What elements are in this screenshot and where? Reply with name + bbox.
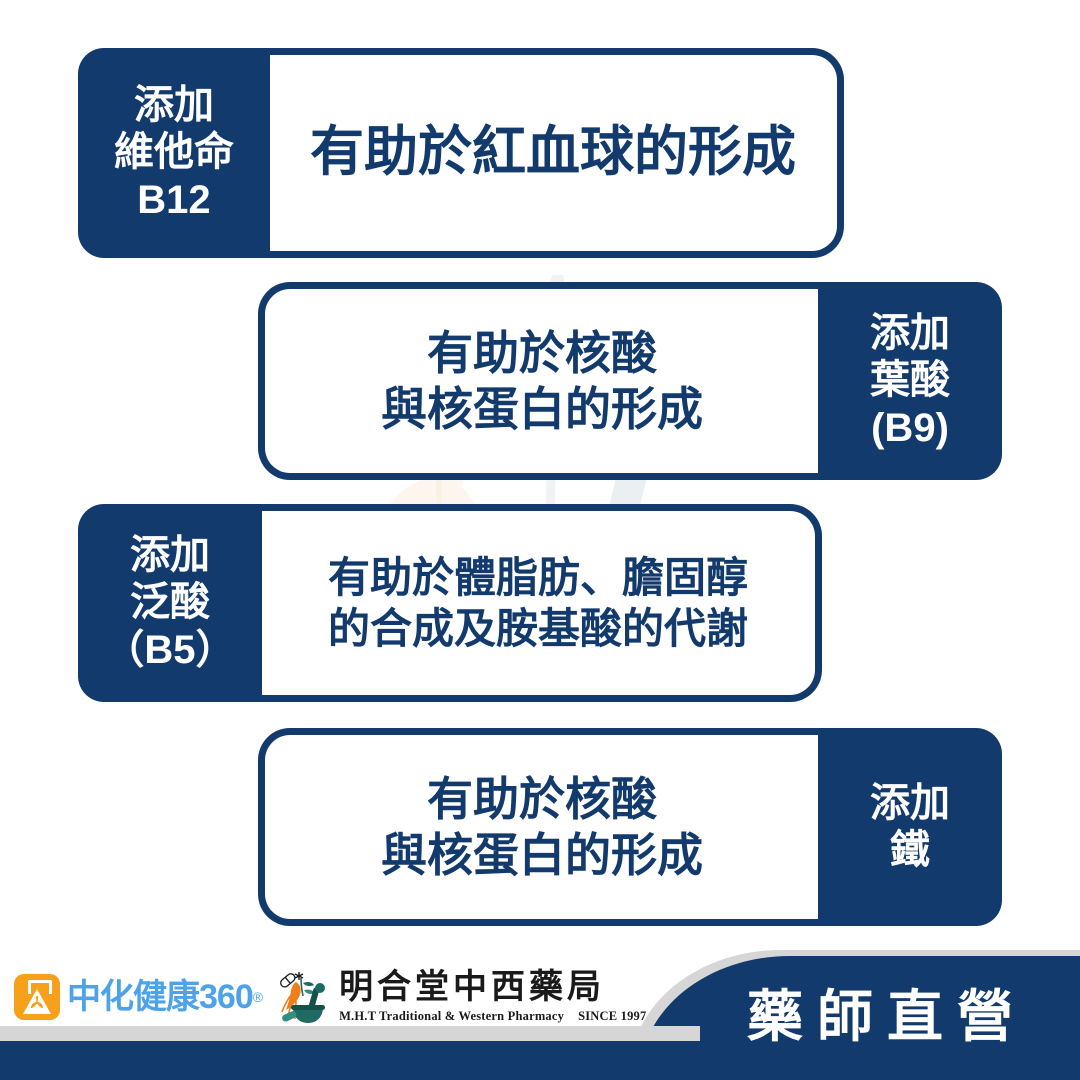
benefit-text-line: 的合成及胺基酸的代謝 xyxy=(328,603,748,654)
minghetang-chinese-name: 明合堂中西藥局 xyxy=(339,970,646,1006)
pharmacist-operated-slogan: 藥師直營 xyxy=(700,966,1060,1058)
footer-bar: 中化健康360 ® xyxy=(0,944,1080,1080)
benefit-text-line: 有助於核酸 xyxy=(427,771,657,827)
nutrient-label-line: 添加 xyxy=(134,82,214,129)
benefit-text-iron: 有助於核酸 與核蛋白的形成 xyxy=(258,728,819,926)
nutrient-label-vitamin-b12: 添加 維他命 B12 xyxy=(78,48,270,258)
nutrient-label-line: 葉酸 xyxy=(870,357,950,404)
nutrient-label-pantothenic-acid: 添加 泛酸 （B5） xyxy=(78,504,262,702)
minghetang-english-name: M.H.T Traditional & Western Pharmacy xyxy=(339,1009,564,1024)
benefit-text-line: 有助於體脂肪、膽固醇 xyxy=(328,552,748,603)
registered-mark-icon: ® xyxy=(253,989,263,1005)
nutrient-label-line: (B9) xyxy=(871,405,949,452)
poster-canvas: 一明合堂中西藥局一 M.H.T Traditional & Western Ph… xyxy=(0,0,1080,1080)
flask-plant-icon xyxy=(26,995,48,1013)
chunghwa-brand-text: 中化健康360 xyxy=(67,980,253,1014)
benefit-row-iron: 有助於核酸 與核蛋白的形成 添加 鐵 xyxy=(258,728,1002,926)
nutrient-label-line: 泛酸 xyxy=(130,579,210,626)
nutrient-label-line: 添加 xyxy=(870,310,950,357)
benefit-row-folic-acid: 有助於核酸 與核蛋白的形成 添加 葉酸 (B9) xyxy=(258,282,1002,480)
nutrient-label-line: 鐵 xyxy=(890,827,930,874)
flask-logo-icon xyxy=(14,974,60,1020)
chunghwa-health-360-logo[interactable]: 中化健康360 ® xyxy=(14,974,263,1020)
mortar-pestle-herb-icon xyxy=(277,969,333,1025)
benefit-text-line: 有助於核酸 xyxy=(427,325,657,381)
benefit-text-pantothenic-acid: 有助於體脂肪、膽固醇 的合成及胺基酸的代謝 xyxy=(261,504,822,702)
benefit-text-line: 與核蛋白的形成 xyxy=(381,827,703,883)
nutrient-label-line: 添加 xyxy=(870,780,950,827)
nutrient-label-line: 添加 xyxy=(130,532,210,579)
nutrient-label-iron: 添加 鐵 xyxy=(818,728,1002,926)
benefit-text-folic-acid: 有助於核酸 與核蛋白的形成 xyxy=(258,282,819,480)
minghetang-english-row: M.H.T Traditional & Western Pharmacy SIN… xyxy=(339,1009,646,1024)
nutrient-label-line: B12 xyxy=(137,177,210,224)
nutrient-label-line: （B5） xyxy=(104,627,235,674)
minghetang-since-text: SINCE 1997 xyxy=(578,1009,646,1024)
benefit-row-vitamin-b12: 添加 維他命 B12 有助於紅血球的形成 xyxy=(78,48,844,258)
benefit-text-line: 有助於紅血球的形成 xyxy=(310,120,796,186)
benefit-text-vitamin-b12: 有助於紅血球的形成 xyxy=(269,48,844,258)
footer-logos: 中化健康360 ® xyxy=(14,960,646,1034)
minghetang-wordmark: 明合堂中西藥局 M.H.T Traditional & Western Phar… xyxy=(339,970,646,1024)
minghetang-pharmacy-logo[interactable]: 明合堂中西藥局 M.H.T Traditional & Western Phar… xyxy=(277,969,646,1025)
nutrient-label-line: 維他命 xyxy=(114,129,234,176)
benefit-row-pantothenic-acid: 添加 泛酸 （B5） 有助於體脂肪、膽固醇 的合成及胺基酸的代謝 xyxy=(78,504,822,702)
benefit-text-line: 與核蛋白的形成 xyxy=(381,381,703,437)
nutrient-label-folic-acid: 添加 葉酸 (B9) xyxy=(818,282,1002,480)
